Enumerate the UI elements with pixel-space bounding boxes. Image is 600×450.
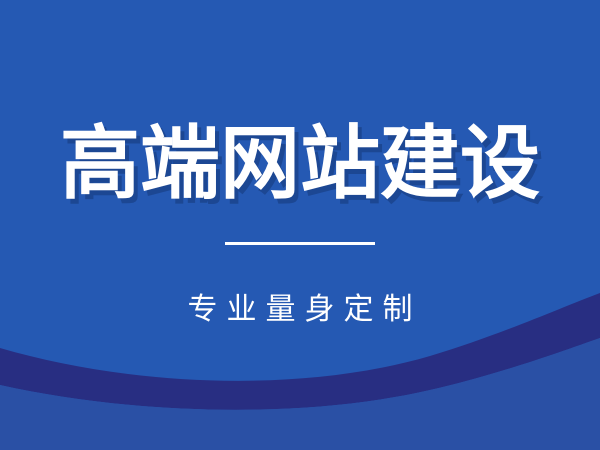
title-divider [225, 242, 375, 245]
banner-content: 高端网站建设 专业量身定制 [0, 0, 600, 450]
page-subtitle: 专业量身定制 [0, 291, 600, 329]
page-title: 高端网站建设 [0, 118, 600, 210]
promo-banner: 高端网站建设 专业量身定制 [0, 0, 600, 450]
